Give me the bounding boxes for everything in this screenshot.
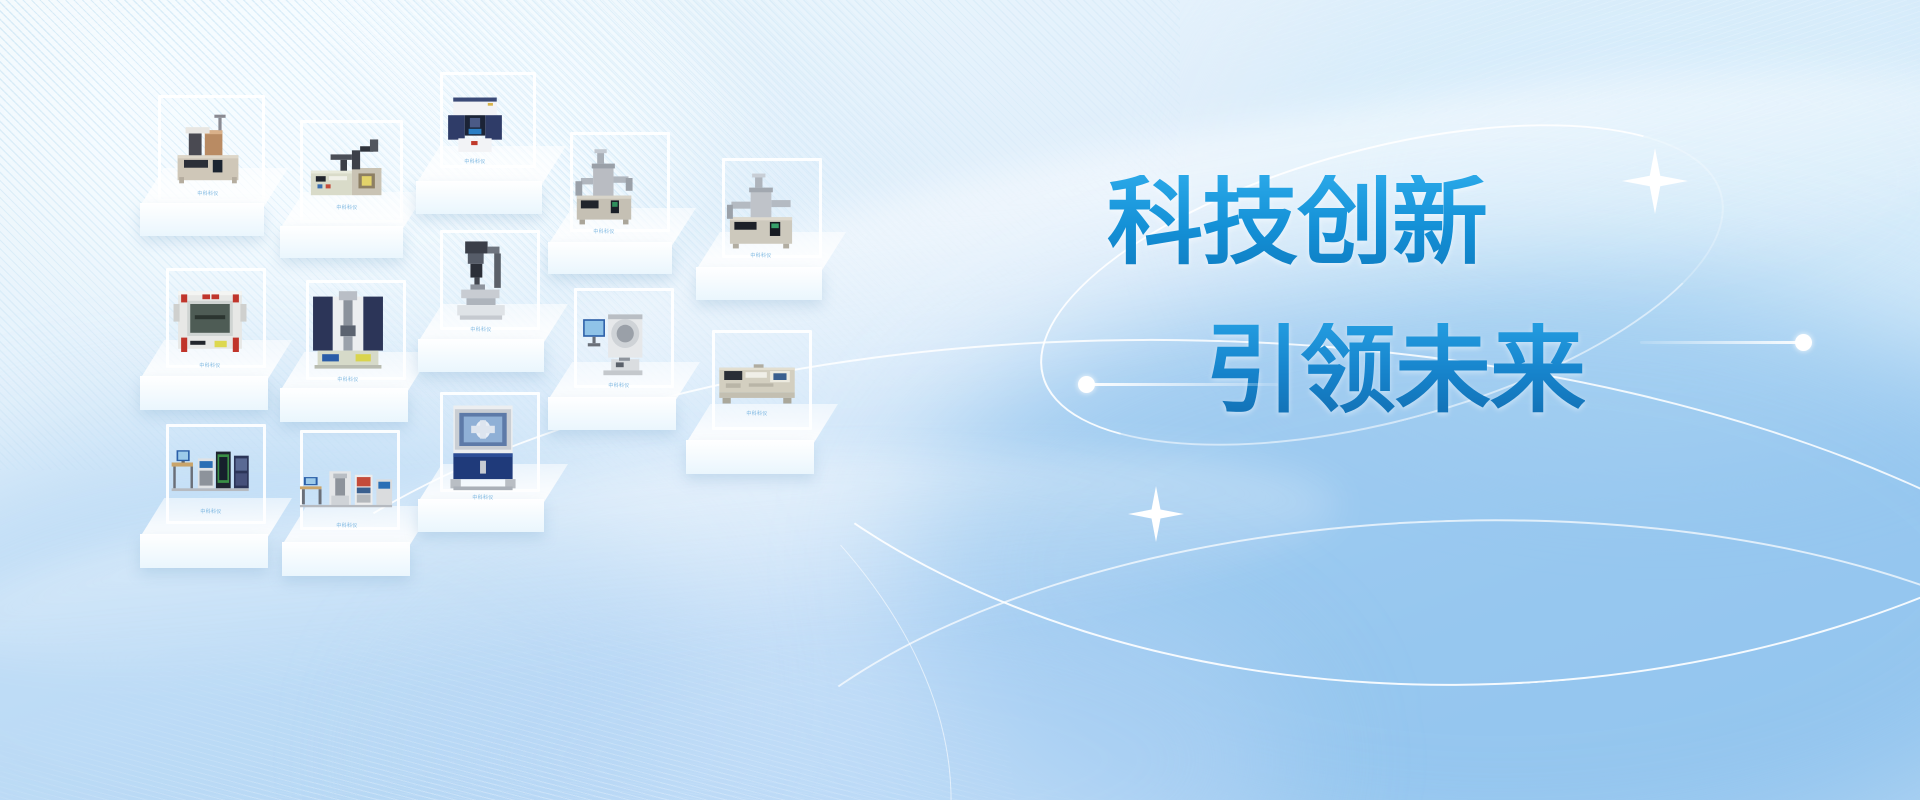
pedestal-front-face <box>548 242 672 274</box>
pedestal-front-face <box>280 388 408 422</box>
product-image <box>570 146 638 226</box>
product-image <box>306 134 388 202</box>
pedestal-front-face <box>548 397 676 430</box>
product-image <box>310 284 386 374</box>
product-image <box>724 172 798 250</box>
product-watermark: 中科科仪 <box>750 252 771 259</box>
pedestal-front-face <box>696 267 822 300</box>
product-image <box>172 280 248 360</box>
product-watermark: 中科科仪 <box>197 190 218 197</box>
product-image <box>168 110 248 188</box>
product-image <box>448 238 514 324</box>
product-showcase-grid: 中科科仪中科科仪中科科仪中科科仪中科科仪中科科仪中科科仪中科科仪中科科仪中科科仪… <box>0 0 1920 800</box>
headline-line-2: 引领未来 <box>1205 323 1585 419</box>
pedestal-front-face <box>140 203 264 236</box>
dot-line-marker-left <box>1078 382 1278 387</box>
marker-line <box>1092 383 1278 386</box>
pedestal-front-face <box>416 181 542 214</box>
product-watermark: 中科科仪 <box>336 204 357 211</box>
product-watermark: 中科科仪 <box>336 522 357 529</box>
headline-line-1: 科技创新 <box>1107 175 1487 271</box>
product-image <box>716 352 798 408</box>
product-image <box>446 400 520 492</box>
product-image <box>170 438 252 506</box>
pedestal-front-face <box>686 440 814 474</box>
marker-line <box>1640 341 1806 344</box>
product-image <box>298 462 396 520</box>
pedestal-front-face <box>418 499 544 532</box>
pedestal-front-face <box>418 339 544 372</box>
product-image <box>580 300 658 380</box>
product-watermark: 中科科仪 <box>200 508 221 515</box>
marker-dot <box>1078 376 1095 393</box>
product-watermark: 中科科仪 <box>608 382 629 389</box>
pedestal-front-face <box>140 534 268 568</box>
dot-line-marker-right <box>1640 340 1820 345</box>
pedestal-front-face <box>280 226 403 258</box>
product-image <box>443 88 507 156</box>
pedestal-front-face <box>140 376 268 410</box>
product-watermark: 中科科仪 <box>746 410 767 417</box>
product-watermark: 中科科仪 <box>593 228 614 235</box>
headline-line-2-text: 引领未来 <box>1205 317 1585 424</box>
product-watermark: 中科科仪 <box>464 158 485 165</box>
product-pedestal <box>416 146 566 214</box>
hero-banner: 中科科仪中科科仪中科科仪中科科仪中科科仪中科科仪中科科仪中科科仪中科科仪中科科仪… <box>0 0 1920 800</box>
product-watermark: 中科科仪 <box>337 376 358 383</box>
product-watermark: 中科科仪 <box>470 326 491 333</box>
product-watermark: 中科科仪 <box>472 494 493 501</box>
marker-dot <box>1795 334 1812 351</box>
headline-block: 科技创新 引领未来 <box>1095 175 1615 455</box>
headline-line-1-text: 科技创新 <box>1107 169 1487 276</box>
product-watermark: 中科科仪 <box>199 362 220 369</box>
pedestal-front-face <box>282 542 410 576</box>
